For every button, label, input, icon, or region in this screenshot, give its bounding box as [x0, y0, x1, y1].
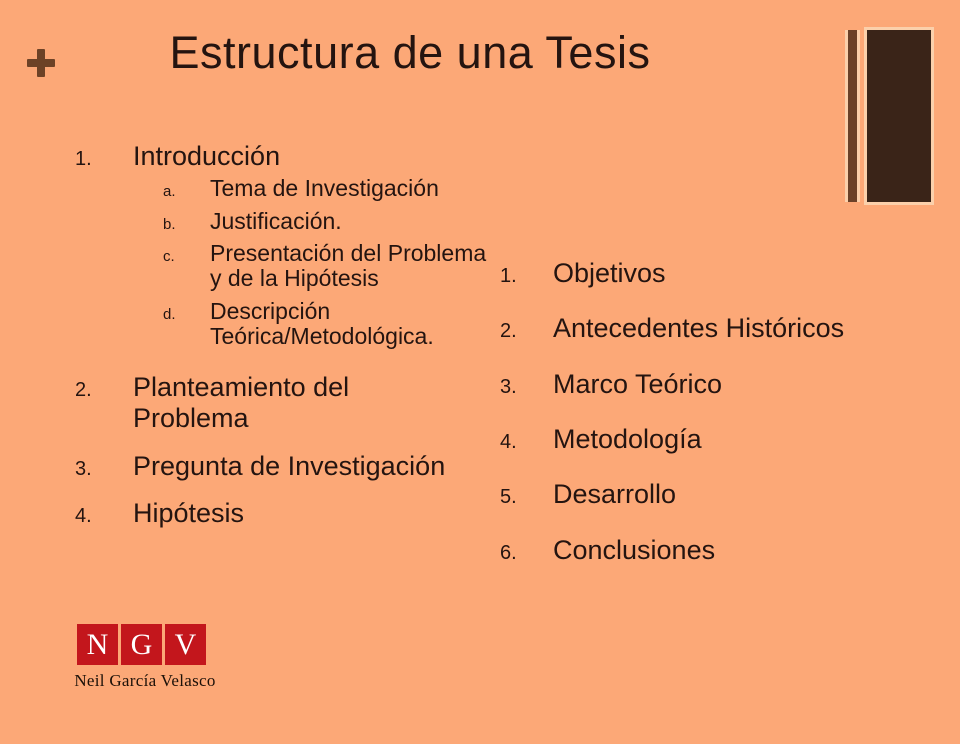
sublist-item: c.Presentación del Problema y de la Hipó… — [133, 241, 495, 292]
sublist-item-label: Presentación del Problema y de la Hipóte… — [210, 241, 495, 292]
sublist-item: a.Tema de Investigación — [133, 176, 495, 201]
logo: NGV Neil García Velasco — [60, 620, 230, 691]
sublist-item-marker: c. — [133, 241, 210, 265]
sublist-item-label: Justificación. — [210, 209, 495, 234]
sublist-item-marker: d. — [133, 299, 210, 323]
sublist-item-label: Tema de Investigación — [210, 176, 495, 201]
list-item-marker: 3. — [500, 369, 553, 399]
list-item: 5.Desarrollo — [500, 479, 930, 510]
list-item: 4.Metodología — [500, 424, 930, 455]
corner-decoration — [843, 27, 937, 205]
sublist-item: d.Descripción Teórica/Metodológica. — [133, 299, 495, 350]
list-item-label: Conclusiones — [553, 535, 930, 566]
decoration-vertical-bar — [848, 30, 857, 202]
page-title: Estructura de una Tesis — [0, 27, 820, 79]
list-item-label: Antecedentes Históricos — [553, 313, 930, 344]
list-item: 6.Conclusiones — [500, 535, 930, 566]
logo-author-name: Neil García Velasco — [60, 671, 230, 691]
list-item-marker: 6. — [500, 535, 553, 565]
sublist-item: b.Justificación. — [133, 209, 495, 234]
presentation-slide: Estructura de una Tesis 1.Introduccióna.… — [0, 0, 960, 744]
outline-list-right: 1.Objetivos2.Antecedentes Históricos3.Ma… — [500, 258, 930, 590]
list-item-label: Introduccióna.Tema de Investigaciónb.Jus… — [133, 141, 495, 356]
logo-letter-v: V — [165, 624, 206, 665]
list-item: 2.Planteamiento del Problema — [75, 372, 495, 435]
list-item-marker: 1. — [500, 258, 553, 288]
list-item-label: Objetivos — [553, 258, 930, 289]
logo-letter-g: G — [121, 624, 162, 665]
list-item: 1.Introduccióna.Tema de Investigaciónb.J… — [75, 141, 495, 356]
decoration-panel — [864, 27, 934, 205]
list-item-label: Desarrollo — [553, 479, 930, 510]
list-item-marker: 2. — [75, 372, 133, 402]
list-item-label: Hipótesis — [133, 498, 495, 529]
list-item-marker: 4. — [75, 498, 133, 528]
logo-letter-n: N — [77, 624, 118, 665]
list-item-marker: 1. — [75, 141, 133, 171]
list-item: 2.Antecedentes Históricos — [500, 313, 930, 344]
sublist-item-marker: a. — [133, 176, 210, 200]
list-item-marker: 3. — [75, 451, 133, 481]
list-item-marker: 4. — [500, 424, 553, 454]
list-item: 3.Pregunta de Investigación — [75, 451, 495, 482]
list-item: 4.Hipótesis — [75, 498, 495, 529]
list-item-marker: 2. — [500, 313, 553, 343]
list-item-label: Marco Teórico — [553, 369, 930, 400]
list-item-label: Metodología — [553, 424, 930, 455]
outline-sublist: a.Tema de Investigaciónb.Justificación.c… — [133, 176, 495, 349]
sublist-item-label: Descripción Teórica/Metodológica. — [210, 299, 495, 350]
list-item-label: Planteamiento del Problema — [133, 372, 495, 435]
list-item: 1.Objetivos — [500, 258, 930, 289]
sublist-item-marker: b. — [133, 209, 210, 233]
logo-letter-squares: NGV — [60, 620, 230, 665]
list-item: 3.Marco Teórico — [500, 369, 930, 400]
list-item-marker: 5. — [500, 479, 553, 509]
outline-list-left: 1.Introduccióna.Tema de Investigaciónb.J… — [75, 141, 495, 545]
list-item-label: Pregunta de Investigación — [133, 451, 495, 482]
